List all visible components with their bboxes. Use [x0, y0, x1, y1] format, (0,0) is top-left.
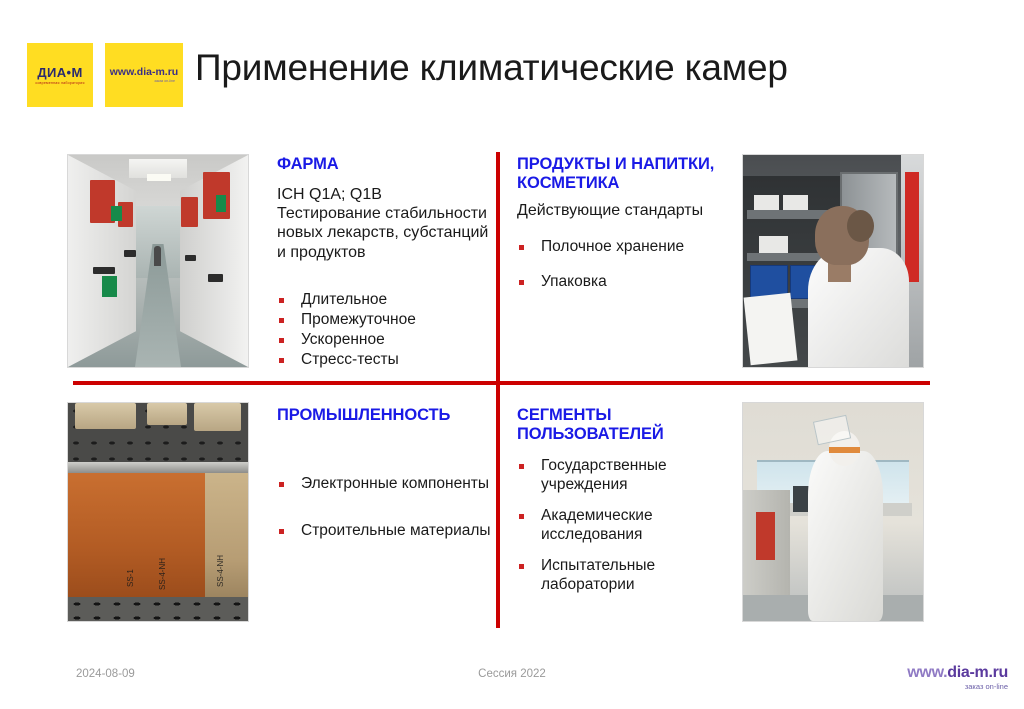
footer-logo: www.dia-m.ru заказ on-line	[907, 665, 1008, 691]
brick-sample-row: SS-1 SS-4-NH SS-4-NH	[68, 473, 248, 597]
chamber-handle	[124, 250, 137, 256]
brick-sample	[172, 473, 205, 597]
list-item: Длительное	[277, 291, 416, 310]
brick-sample	[68, 473, 123, 597]
footer-logo-www: www.	[907, 664, 947, 681]
footer-logo-url: www.dia-m.ru	[907, 665, 1008, 681]
logo-website: www.dia-m.ru заказ on-line	[105, 43, 183, 107]
paper-sheet	[743, 293, 797, 365]
sample-marking: SS-1	[126, 569, 135, 587]
sample-box	[759, 236, 788, 253]
photo-technician-at-chamber	[742, 154, 924, 368]
chamber-green-label	[111, 206, 122, 221]
photo-building-material-samples: SS-1 SS-4-NH SS-4-NH	[67, 402, 249, 622]
divider-horizontal	[73, 381, 930, 385]
heading-user-segments: СЕГМЕНТЫ ПОЛЬЗОВАТЕЛЕЙ	[517, 406, 664, 445]
corridor-person	[154, 246, 161, 266]
sample-box	[783, 195, 808, 210]
list-item: Стресс-тесты	[277, 351, 416, 370]
chamber-green-label	[102, 276, 116, 297]
stone-sample	[147, 403, 187, 425]
cleanroom-illustration	[743, 403, 923, 621]
logo-diam-text: ДИА•М	[37, 66, 82, 79]
chamber-green-label	[216, 195, 227, 212]
logo-website-subtitle: заказ on-line	[154, 79, 175, 83]
chamber-red-panel	[181, 197, 197, 227]
bullet-list-pharma: Длительное Промежуточное Ускоренное Стре…	[277, 291, 416, 371]
sample-box	[754, 195, 779, 210]
corridor-light	[147, 174, 170, 181]
subtext-pharma: ICH Q1A; Q1B Тестирование стабильности н…	[277, 185, 492, 262]
heading-pharma: ФАРМА	[277, 155, 339, 174]
list-item: Упаковка	[517, 273, 684, 292]
logo-diam-subtitle: современная лаборатория	[35, 81, 84, 85]
cleanroom-suit	[808, 451, 884, 621]
sample-marking: SS-4-NH	[158, 558, 167, 590]
logo-website-url: www.dia-m.ru	[110, 67, 178, 78]
photo-cleanroom-worker	[742, 402, 924, 622]
sample-marking: SS-4-NH	[216, 555, 225, 587]
page-title: Применение климатические камер	[195, 48, 788, 89]
bullet-list-food: Полочное хранение Упаковка	[517, 238, 684, 308]
list-item: Электронные компоненты	[277, 475, 491, 494]
list-item: Государственные учреждения	[517, 457, 667, 495]
shelf-rail	[68, 462, 248, 473]
lab-coat	[808, 248, 909, 367]
bullet-list-users: Государственные учреждения Академические…	[517, 457, 667, 606]
logo-diam: ДИА•М современная лаборатория	[27, 43, 93, 107]
list-item: Испытательные лаборатории	[517, 557, 667, 595]
bullet-list-industry: Электронные компоненты Строительные мате…	[277, 475, 491, 569]
list-item: Строительные материалы	[277, 522, 491, 541]
subtext-food: Действующие стандарты	[517, 201, 737, 220]
heading-industry: ПРОМЫШЛЕННОСТЬ	[277, 406, 450, 425]
footer-session-label: Сессия 2022	[0, 668, 1024, 680]
chamber-handle	[208, 274, 222, 282]
photo-climate-chamber-corridor	[67, 154, 249, 368]
chamber-red-trim	[905, 172, 919, 282]
stone-sample	[75, 403, 136, 429]
stone-sample	[194, 403, 241, 431]
chamber-handle	[93, 267, 115, 273]
footer-logo-domain: dia-m.ru	[947, 664, 1008, 681]
list-item: Ускоренное	[277, 331, 416, 350]
perforated-shelf-bottom	[68, 597, 248, 621]
hood-strap	[829, 447, 860, 454]
samples-illustration: SS-1 SS-4-NH SS-4-NH	[68, 403, 248, 621]
technician-illustration	[743, 155, 923, 367]
footer-logo-subtitle: заказ on-line	[907, 683, 1008, 691]
divider-vertical	[496, 152, 500, 628]
list-item: Полочное хранение	[517, 238, 684, 257]
chamber-handle	[185, 255, 196, 261]
brick-sample-pale	[205, 473, 249, 597]
heading-food-beverage-cosmetics: ПРОДУКТЫ И НАПИТКИ, КОСМЕТИКА	[517, 155, 714, 194]
list-item: Академические исследования	[517, 507, 667, 545]
corridor-illustration	[68, 155, 248, 367]
list-item: Промежуточное	[277, 311, 416, 330]
red-binder	[756, 512, 776, 560]
